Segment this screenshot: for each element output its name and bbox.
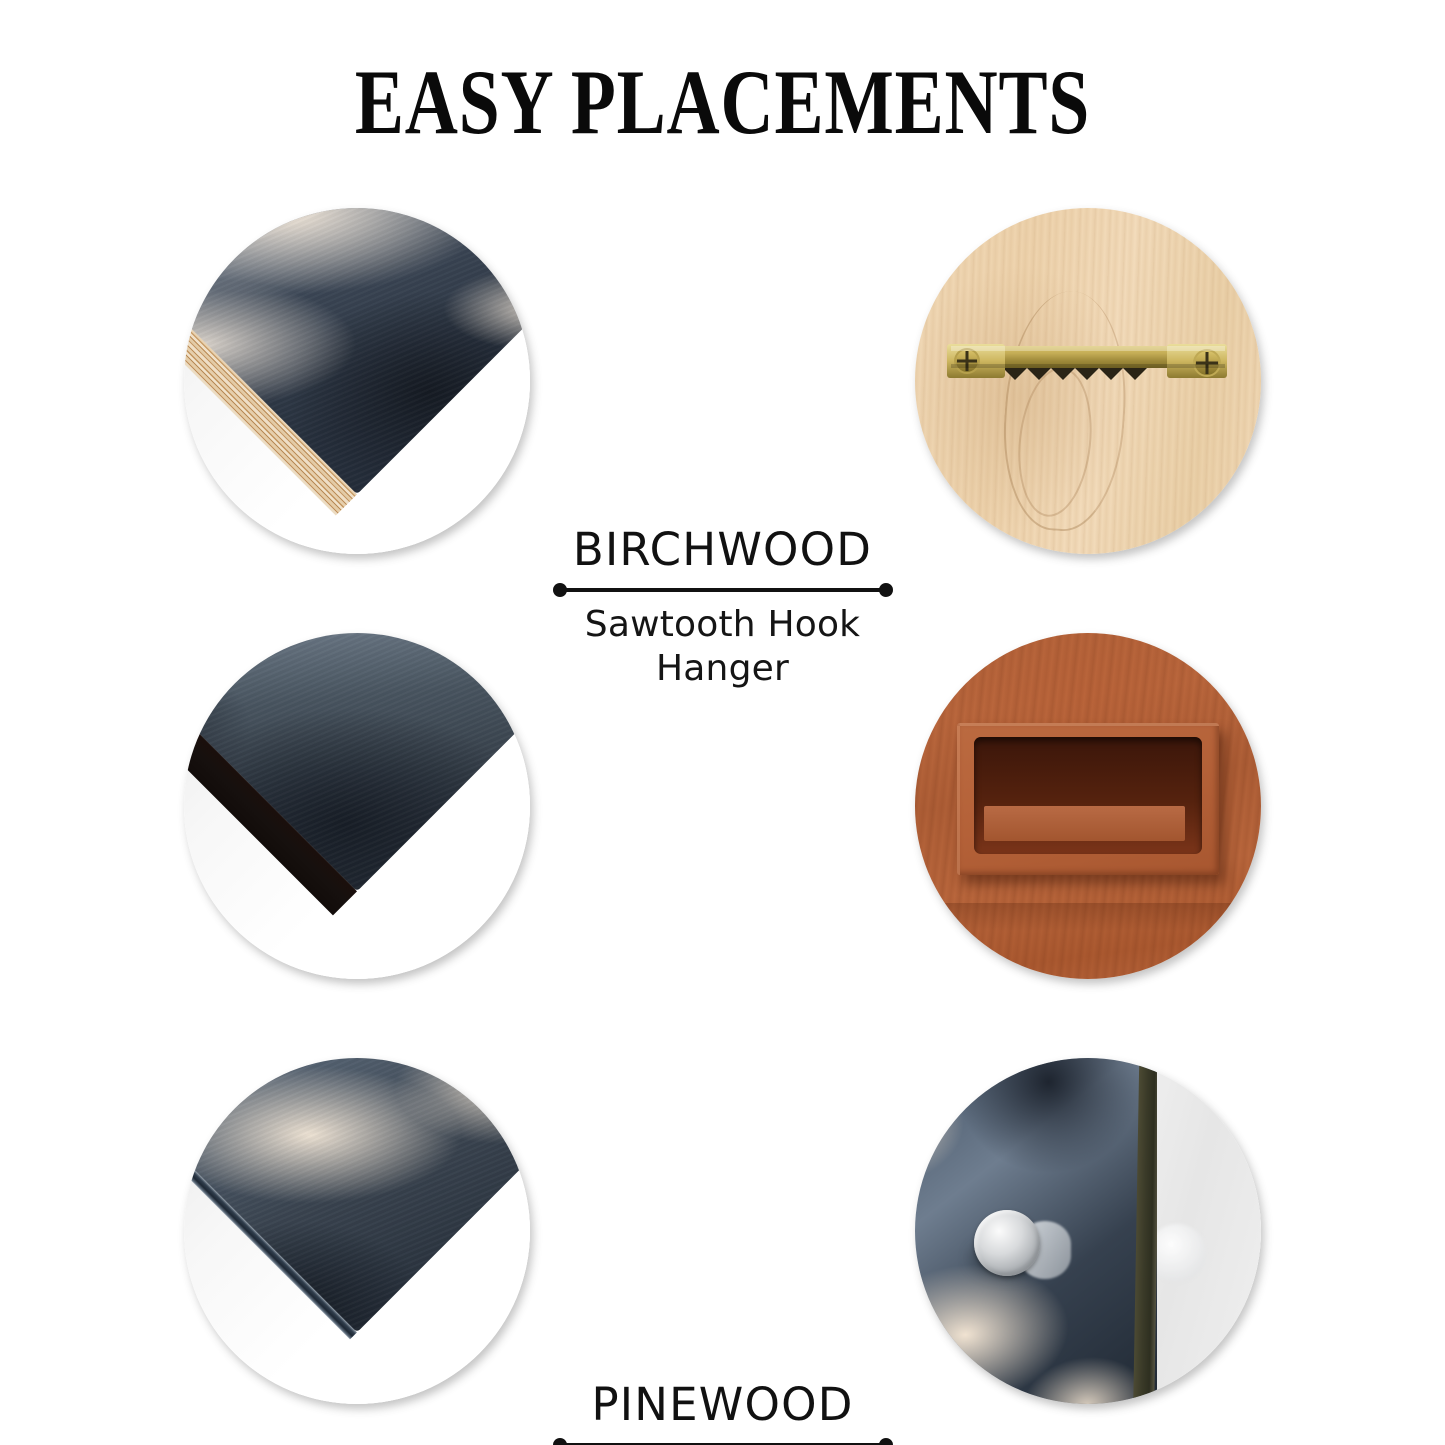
birchwood-panel-image <box>184 208 530 554</box>
divider-dot-right-icon <box>879 583 893 597</box>
section-pinewood: PINEWOOD Wooden Hook <box>0 633 1445 979</box>
sawtooth-hook-hanger-icon <box>945 338 1231 390</box>
page-title: EASY PLACEMENTS <box>145 54 1301 151</box>
divider-line <box>559 588 887 592</box>
wooden-hook-image <box>915 633 1261 979</box>
stainless-steel-stud-cap <box>974 1210 1040 1276</box>
wooden-hook-slot-lip <box>984 806 1185 841</box>
stainless-steel-stud-image <box>915 1058 1261 1404</box>
sawtooth-hanger-image <box>915 208 1261 554</box>
section-acrylic: ACRYLIC Stainless Steel Studs <box>0 1058 1445 1404</box>
divider-pinewood <box>553 1438 893 1445</box>
divider-dot-right-icon <box>879 1438 893 1445</box>
wood-shadow-band <box>915 903 1261 931</box>
easy-placements-poster: EASY PLACEMENTS BIRCHWOOD <box>0 0 1445 1445</box>
section-birchwood: BIRCHWOOD Sawtooth Hook Hanger <box>0 208 1445 554</box>
acrylic-panel-image <box>184 1058 530 1404</box>
divider-birchwood <box>553 583 893 597</box>
pinewood-panel-image <box>184 633 530 979</box>
material-name-birchwood: BIRCHWOOD <box>530 526 915 574</box>
